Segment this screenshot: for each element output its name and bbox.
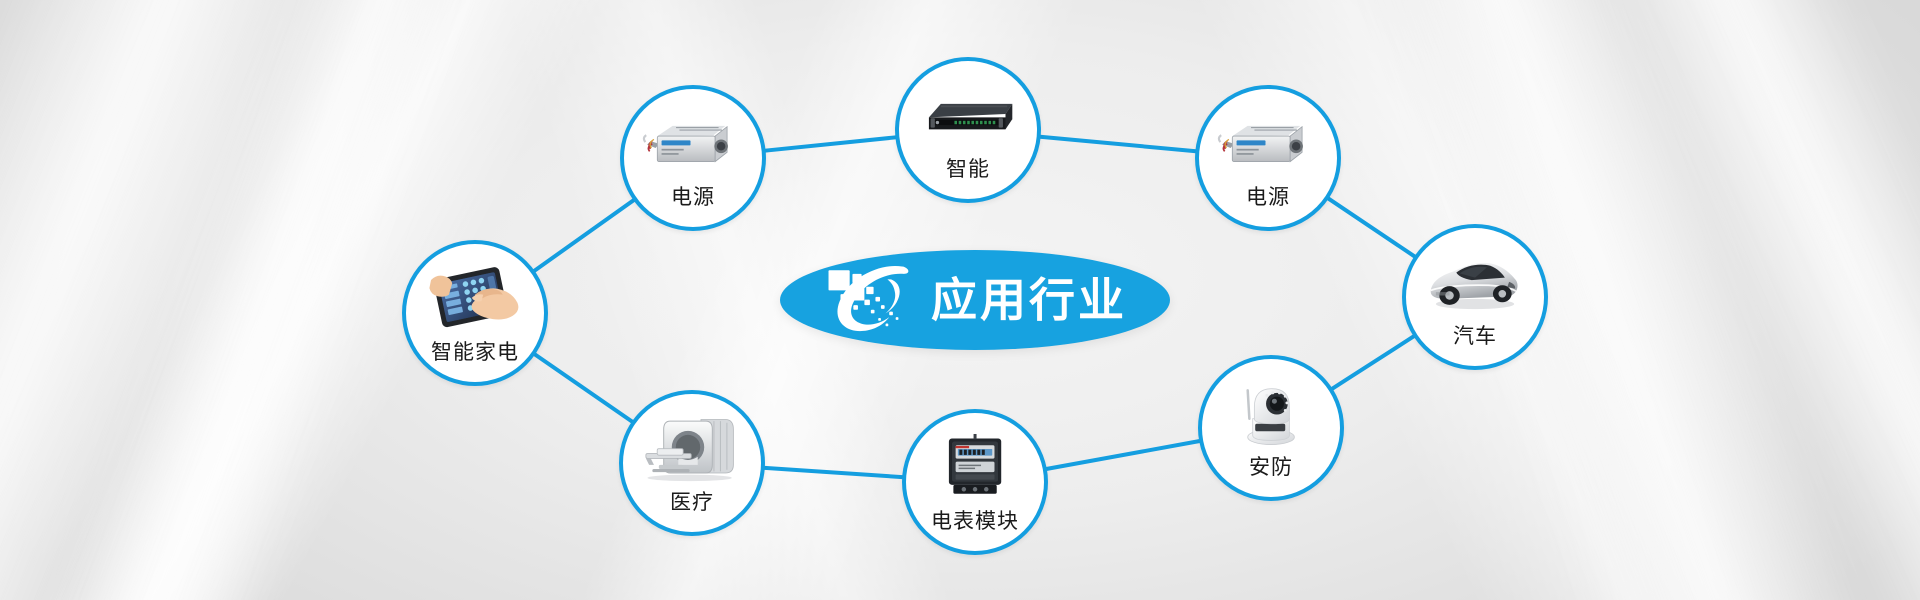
electric-meter-icon <box>924 431 1026 503</box>
application-industries-banner: 电源 智能 <box>0 0 1920 600</box>
badge-title: 应用行业 <box>931 277 1127 323</box>
rack-server-icon <box>917 79 1019 151</box>
node-smart-home[interactable]: 智能家电 <box>402 240 548 386</box>
link-automotive-to-security <box>1331 335 1416 389</box>
node-label: 电表模块 <box>931 505 1019 535</box>
link-medical-to-smart-home <box>533 353 633 422</box>
node-label: 医疗 <box>670 486 714 516</box>
node-power-left[interactable]: 电源 <box>620 85 766 231</box>
link-power-left-to-smart <box>764 137 898 151</box>
node-label: 电源 <box>671 181 715 211</box>
link-power-right-to-automotive <box>1327 198 1416 258</box>
node-label: 汽车 <box>1453 320 1497 350</box>
atx-power-supply-icon <box>642 107 744 179</box>
atx-power-supply-icon <box>1217 107 1319 179</box>
node-medical[interactable]: 医疗 <box>619 390 765 536</box>
node-label: 安防 <box>1249 451 1293 481</box>
sports-car-icon <box>1424 246 1526 318</box>
node-power-right[interactable]: 电源 <box>1195 85 1341 231</box>
swoosh-pixel-logo-icon <box>823 261 915 339</box>
link-meter-to-medical <box>763 468 904 477</box>
node-label: 电源 <box>1246 181 1290 211</box>
link-smart-home-to-power-left <box>533 199 635 272</box>
mri-scanner-icon <box>641 412 743 484</box>
tablet-touch-hand-icon <box>424 262 526 334</box>
center-badge: 应用行业 <box>780 250 1170 350</box>
node-smart[interactable]: 智能 <box>895 57 1041 203</box>
link-smart-to-power-right <box>1039 137 1198 152</box>
node-automotive[interactable]: 汽车 <box>1402 224 1548 370</box>
ip-camera-icon <box>1220 377 1322 449</box>
node-security[interactable]: 安防 <box>1198 355 1344 501</box>
node-meter[interactable]: 电表模块 <box>902 409 1048 555</box>
node-label: 智能家电 <box>431 336 519 366</box>
link-security-to-meter <box>1045 441 1201 470</box>
node-label: 智能 <box>946 153 990 183</box>
